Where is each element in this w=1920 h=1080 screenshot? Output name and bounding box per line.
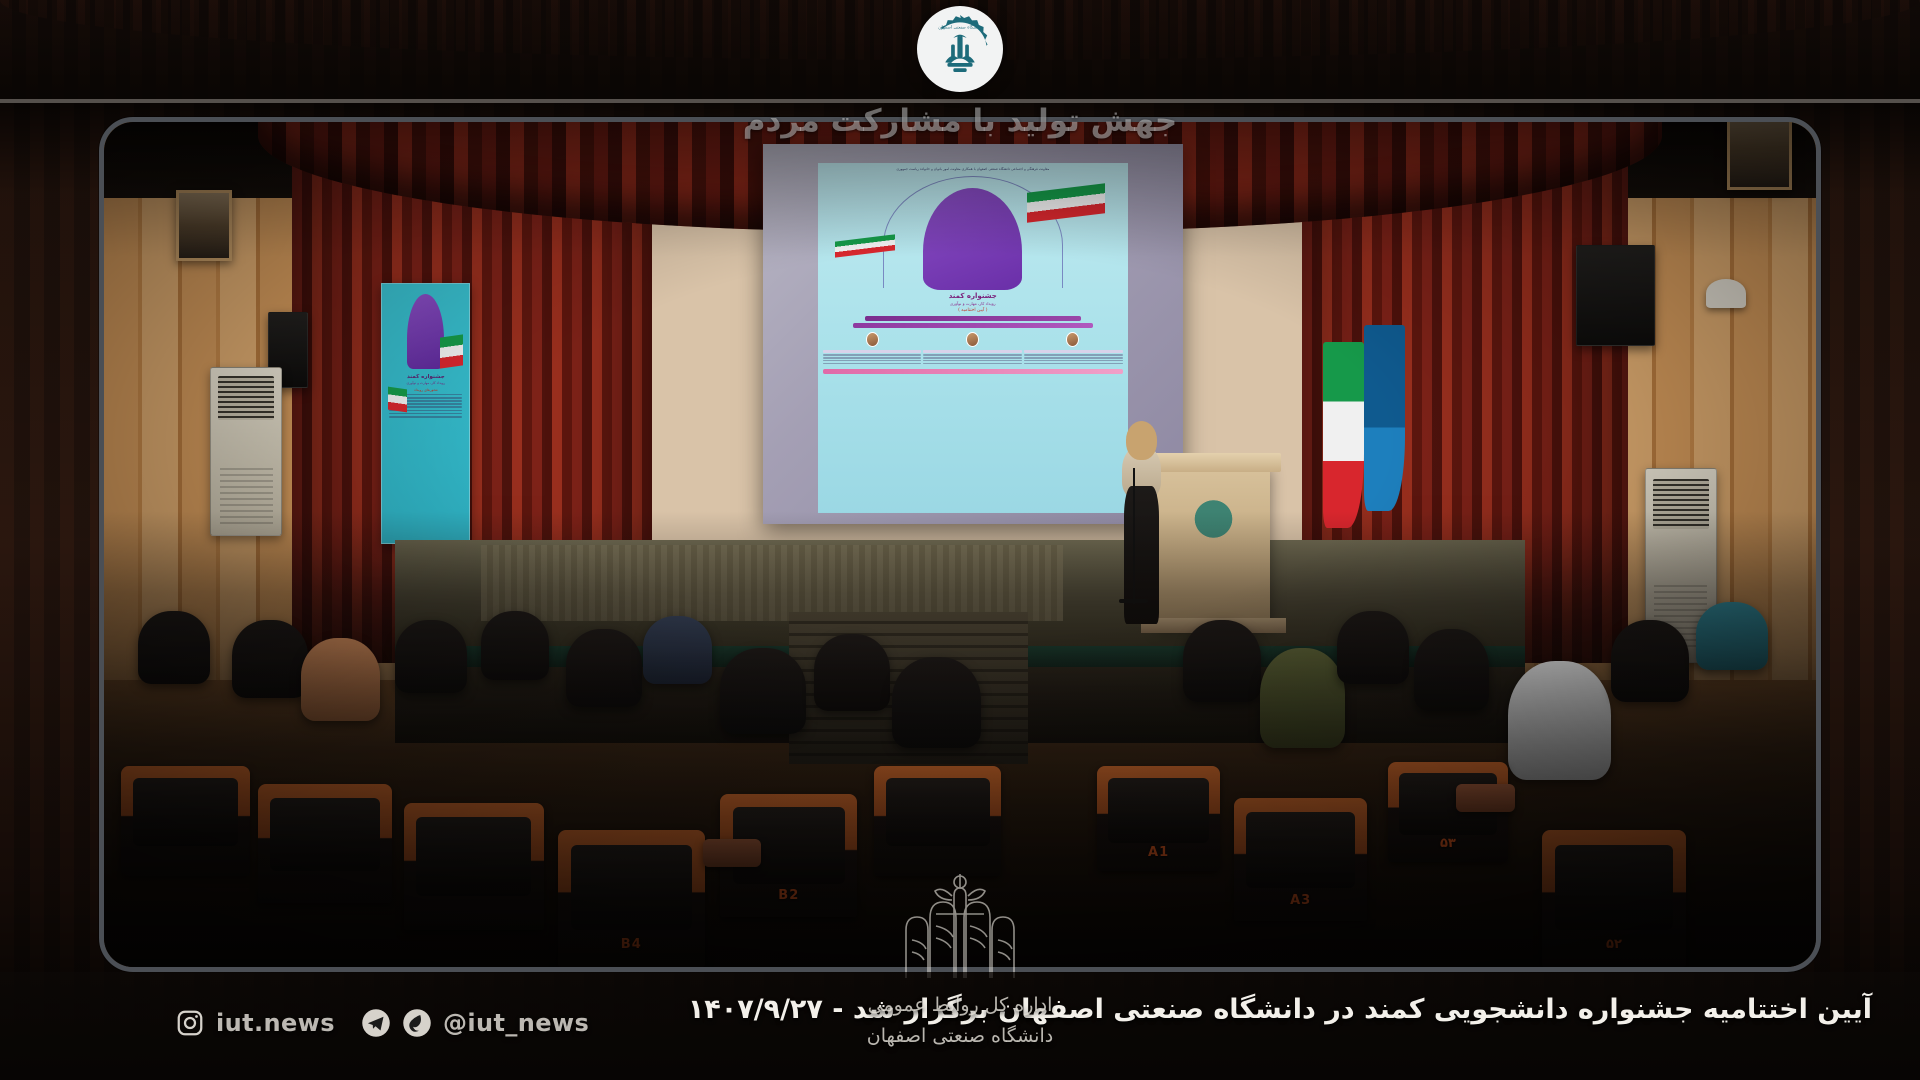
seat [121, 766, 249, 876]
seat-label: A1 [1148, 845, 1169, 860]
projected-slide: معاونت فرهنگی و اجتماعی دانشگاه صنعتی اص… [818, 163, 1128, 513]
seat [258, 784, 392, 903]
seat-label: A3 [1290, 893, 1311, 908]
instagram-icon[interactable] [175, 1008, 205, 1038]
telegram-icon[interactable] [361, 1008, 391, 1038]
seat [404, 803, 544, 931]
wall-portrait-right [1727, 122, 1792, 190]
audience-member [1508, 661, 1611, 780]
social-handles: iut.news @iut_news [175, 1008, 589, 1038]
slide-venue-bar [853, 323, 1093, 328]
speaker-photo [866, 332, 879, 347]
org-line-1: اداره کل روابط عمومی [867, 990, 1053, 1021]
audience-member [1337, 611, 1409, 684]
seat-label: B2 [778, 888, 799, 903]
iut-gear-logo-icon: دانشگاه صنعتی اصفهان [923, 12, 997, 86]
audience-member [814, 634, 889, 712]
campaign-slogan: جهش تولید با مشارکت مردم [743, 103, 1178, 139]
seat-label: ۵۲ [1606, 937, 1622, 952]
audience-member [1183, 620, 1262, 702]
slide-bio-col [1024, 350, 1123, 366]
iut-logo: دانشگاه صنعتی اصفهان [917, 6, 1003, 92]
seat-label: ۵۳ [1440, 836, 1456, 851]
seat: ۵۳ [1388, 762, 1508, 862]
speaker-photo [1066, 332, 1079, 347]
slide-subtitle: رویداد کار، مهارت و نوآوری [823, 301, 1123, 306]
slide-footer-banner [823, 369, 1123, 374]
slide-title: جشنواره کمند [823, 292, 1123, 300]
event-standee-banner: جشنواره کمند رویداد کار، مهارت و نوآوری … [381, 283, 470, 545]
audience-member [1611, 620, 1690, 702]
audience-member [395, 620, 467, 693]
slide-speaker-photos [823, 332, 1123, 347]
handbag [703, 839, 761, 866]
organization-credit: اداره کل روابط عمومی دانشگاه صنعتی اصفها… [867, 990, 1053, 1053]
standee-figure [407, 294, 444, 370]
event-photo: معاونت فرهنگی و اجتماعی دانشگاه صنعتی اص… [104, 122, 1816, 967]
handbag [1456, 784, 1514, 811]
iran-flag-graphic [1027, 183, 1105, 223]
slide-bio-col [923, 350, 1022, 366]
university-flag-pole [1364, 325, 1405, 511]
projection-screen: معاونت فرهنگی و اجتماعی دانشگاه صنعتی اص… [763, 144, 1182, 524]
slide-artwork [823, 174, 1123, 290]
seat: A3 [1234, 798, 1368, 921]
audience-member [1260, 648, 1346, 748]
audience-member [566, 629, 641, 707]
audience-member [643, 616, 711, 684]
screenshot-root: دانشگاه صنعتی اصفهان جهش تولید با مشارکت… [0, 0, 1920, 1080]
audience-member [138, 611, 210, 684]
slide-bio-col [823, 350, 922, 366]
slide-paren: ( آیین اختتامیه ) [823, 308, 1123, 313]
eitaa-handle[interactable]: @iut_news [443, 1009, 589, 1037]
seat-label: B4 [621, 937, 642, 952]
loudspeaker-right [1576, 245, 1655, 346]
svg-text:دانشگاه صنعتی اصفهان: دانشگاه صنعتی اصفهان [938, 24, 982, 30]
footer-bar: آیین اختتامیه جشنواره دانشجویی کمند در د… [0, 972, 1920, 1080]
slide-speaker-bios [823, 350, 1123, 366]
standee-title: جشنواره کمند [385, 374, 466, 380]
seat: B4 [558, 830, 705, 967]
audience-member [1414, 629, 1489, 711]
instagram-handle[interactable]: iut.news [216, 1009, 335, 1037]
audience-member [720, 648, 806, 735]
standee-flag [440, 334, 463, 368]
org-line-2: دانشگاه صنعتی اصفهان [867, 1021, 1053, 1052]
seat [874, 766, 1001, 876]
standee-subtitle: رویداد کار، مهارت و نوآوری [385, 381, 466, 385]
seat: ۵۲ [1542, 830, 1686, 967]
iran-flag-pole [1323, 342, 1364, 528]
standee-flag-2 [388, 386, 407, 412]
audience-area: B4 B2 A1 A3 ۵۳ [104, 511, 1816, 967]
security-camera [1706, 279, 1745, 308]
audience-member [892, 657, 981, 748]
speaker-photo [966, 332, 979, 347]
logo-disc: دانشگاه صنعتی اصفهان [917, 6, 1003, 92]
audience-member [232, 620, 307, 698]
audience-member [481, 611, 549, 679]
eitaa-icon[interactable] [402, 1008, 432, 1038]
wall-portrait-left [176, 190, 232, 261]
audience-member [1696, 602, 1768, 670]
slide-datetime-bar [865, 316, 1081, 321]
seat: A1 [1097, 766, 1220, 871]
slide-header-note: معاونت فرهنگی و اجتماعی دانشگاه صنعتی اص… [823, 167, 1123, 172]
news-caption: آیین اختتامیه جشنواره دانشجویی کمند در د… [688, 994, 1872, 1025]
photo-frame: معاونت فرهنگی و اجتماعی دانشگاه صنعتی اص… [99, 117, 1821, 972]
audience-member [301, 638, 380, 720]
